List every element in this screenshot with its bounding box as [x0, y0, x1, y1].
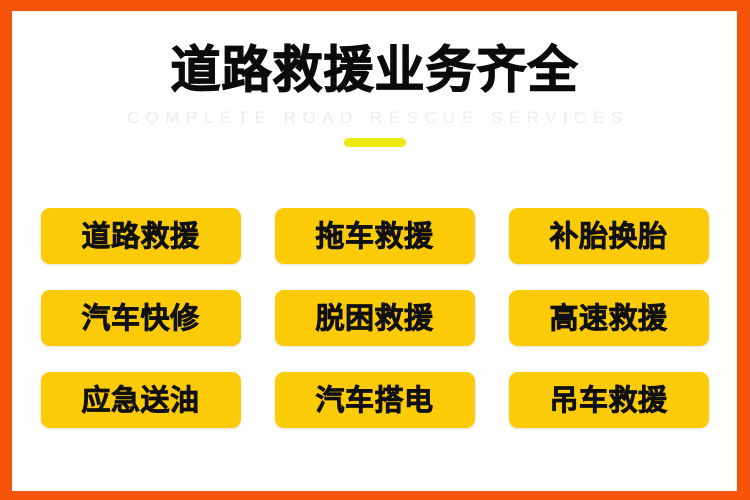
- service-chip-emergency-fuel[interactable]: 应急送油: [41, 372, 241, 428]
- service-chip-label: 汽车快修: [81, 303, 199, 333]
- header: 道路救援业务齐全 COMPLETE ROAD RESCUE SERVICES: [12, 41, 737, 147]
- poster-canvas: 道路救援业务齐全 COMPLETE ROAD RESCUE SERVICES 道…: [12, 11, 737, 491]
- service-chip-highway-rescue[interactable]: 高速救援: [509, 290, 709, 346]
- service-chip-label: 汽车搭电: [315, 385, 433, 415]
- service-chip-crane-rescue[interactable]: 吊车救援: [509, 372, 709, 428]
- service-chip-label: 高速救援: [549, 303, 667, 333]
- service-chip-quick-auto-repair[interactable]: 汽车快修: [41, 290, 241, 346]
- service-chip-tire-repair-replace[interactable]: 补胎换胎: [509, 208, 709, 264]
- service-chip-jump-start[interactable]: 汽车搭电: [275, 372, 475, 428]
- service-chip-road-rescue[interactable]: 道路救援: [41, 208, 241, 264]
- service-chip-label: 脱困救援: [315, 303, 433, 333]
- title-underline-bar: [344, 138, 406, 147]
- service-chip-extrication-rescue[interactable]: 脱困救援: [275, 290, 475, 346]
- service-chip-grid: 道路救援 拖车救援 补胎换胎 汽车快修 脱困救援 高速救援 应急送油 汽车搭电: [40, 208, 709, 428]
- page-subtitle: COMPLETE ROAD RESCUE SERVICES: [12, 107, 737, 128]
- service-chip-label: 拖车救援: [315, 221, 433, 251]
- service-chip-label: 道路救援: [81, 221, 199, 251]
- service-chip-tow-rescue[interactable]: 拖车救援: [275, 208, 475, 264]
- poster-frame: 道路救援业务齐全 COMPLETE ROAD RESCUE SERVICES 道…: [0, 0, 750, 500]
- service-chip-label: 应急送油: [81, 385, 199, 415]
- page-title: 道路救援业务齐全: [12, 41, 737, 99]
- service-chip-label: 补胎换胎: [549, 221, 667, 251]
- service-chip-label: 吊车救援: [549, 385, 667, 415]
